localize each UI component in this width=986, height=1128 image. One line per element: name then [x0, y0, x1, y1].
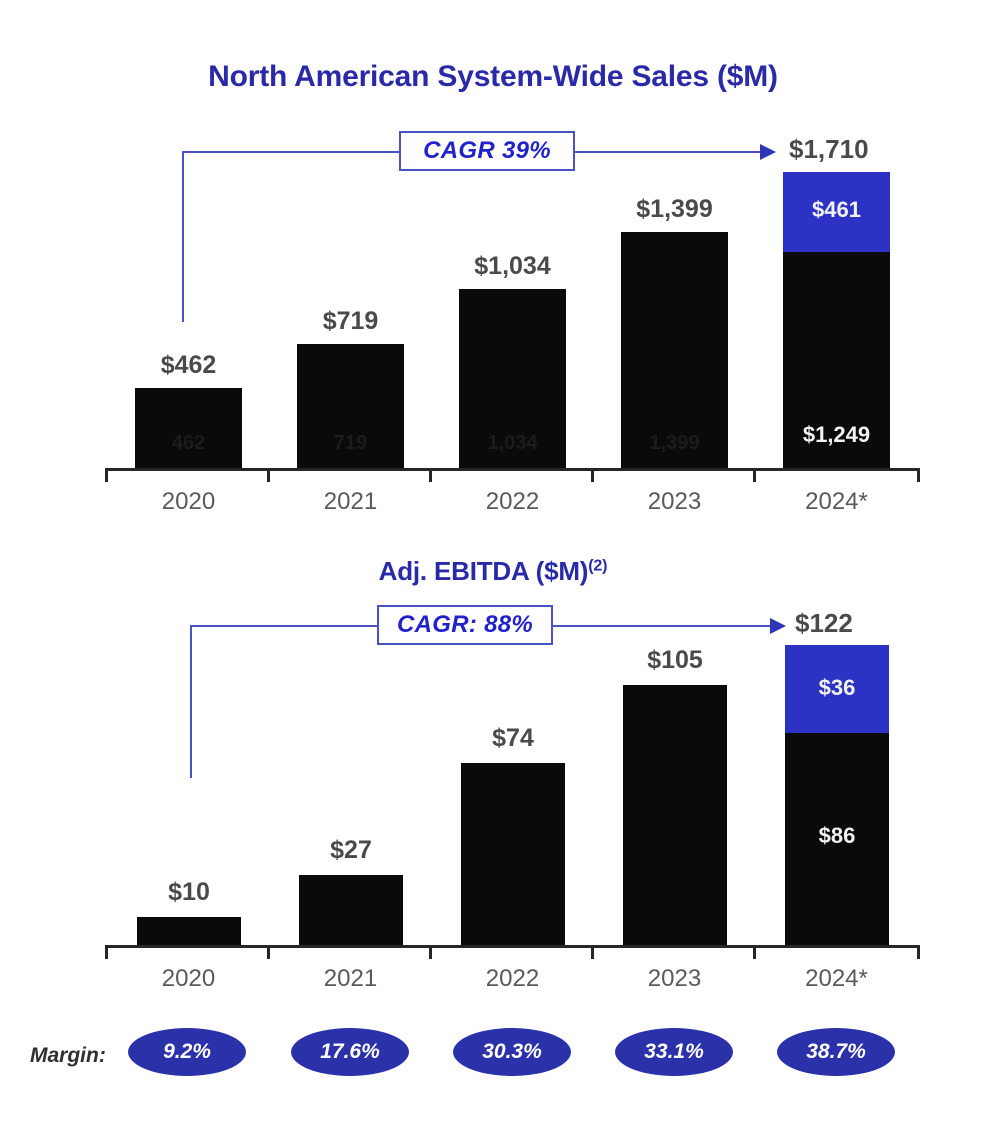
- margin-badge-label-2020: 9.2%: [163, 1040, 211, 1064]
- x-axis-label-2023-ebitda: 2023: [614, 965, 735, 993]
- x-axis-label-2024-sales: 2024*: [776, 488, 897, 516]
- x-axis-label-2021-ebitda: 2021: [290, 965, 411, 993]
- x-axis-tick-4-ebitda: [753, 947, 756, 959]
- x-axis-label-2020-sales: 2020: [128, 488, 249, 516]
- cagr-arrowhead-sales: [760, 144, 776, 160]
- value-label-2020-sales: $462: [135, 351, 242, 380]
- x-axis-tick-4-sales: [753, 470, 756, 482]
- cagr-arrowhead-ebitda: [770, 618, 786, 634]
- x-axis-label-2023-sales: 2023: [614, 488, 735, 516]
- cagr-badge-sales: CAGR 39%: [399, 131, 575, 171]
- bar-inner-label-2020-sales: 462: [135, 432, 242, 455]
- chart-adj-ebitda: CAGR: 88% $122 $10 $27 $74 $105 $86 $36: [0, 600, 986, 1000]
- x-axis-label-2021-sales: 2021: [290, 488, 411, 516]
- x-axis-cap-left-sales: [105, 468, 108, 482]
- cagr-horizontal-line-right-sales: [575, 151, 771, 153]
- margin-badge-label-2024: 38.7%: [806, 1040, 866, 1064]
- value-label-2022-ebitda: $74: [454, 724, 572, 753]
- slide-canvas: North American System-Wide Sales ($M) CA…: [0, 0, 986, 1128]
- margin-badge-2021: 17.6%: [291, 1028, 409, 1076]
- bar-2022-sales: 1,034: [459, 289, 566, 468]
- bar-2024-sales-incremental: $461: [783, 172, 890, 252]
- margin-badge-label-2022: 30.3%: [482, 1040, 542, 1064]
- cagr-badge-ebitda: CAGR: 88%: [377, 605, 553, 645]
- value-label-2021-sales: $719: [297, 307, 404, 336]
- title-superscript-ebitda: (2): [588, 556, 607, 574]
- cagr-horizontal-line-left-sales: [182, 151, 399, 153]
- margin-badge-label-2023: 33.1%: [644, 1040, 704, 1064]
- margin-badge-2022: 30.3%: [453, 1028, 571, 1076]
- cagr-badge-label-sales: CAGR 39%: [423, 137, 551, 165]
- bar-2020-ebitda: [137, 917, 241, 945]
- x-axis-label-2024-ebitda: 2024*: [776, 965, 897, 993]
- bar-2021-ebitda: [299, 875, 403, 945]
- title-text-sales: North American System-Wide Sales ($M): [208, 60, 778, 93]
- bar-2024-ebitda-base: $86: [785, 733, 889, 945]
- x-axis-tick-2-sales: [429, 470, 432, 482]
- margin-caption: Margin:: [30, 1044, 106, 1068]
- value-label-2022-sales: $1,034: [452, 252, 573, 281]
- margin-badge-2023: 33.1%: [615, 1028, 733, 1076]
- total-value-text-ebitda: $122: [795, 608, 853, 638]
- cagr-horizontal-line-right-ebitda: [553, 625, 778, 627]
- cagr-horizontal-line-left-ebitda: [190, 625, 377, 627]
- page-title-sales: North American System-Wide Sales ($M): [0, 60, 986, 94]
- x-axis-cap-right-ebitda: [917, 945, 920, 959]
- bar-2020-sales: 462: [135, 388, 242, 468]
- margin-badge-2020: 9.2%: [128, 1028, 246, 1076]
- x-axis-tick-1-sales: [267, 470, 270, 482]
- x-axis-label-2020-ebitda: 2020: [128, 965, 249, 993]
- x-axis-tick-3-ebitda: [591, 947, 594, 959]
- total-value-text-sales: $1,710: [789, 134, 869, 164]
- value-label-2023-ebitda: $105: [616, 646, 734, 675]
- cagr-vertical-connector-sales: [182, 152, 184, 322]
- margin-badge-2024: 38.7%: [777, 1028, 895, 1076]
- bar-2022-ebitda: [461, 763, 565, 945]
- bar-2024-sales-base: $1,249: [783, 252, 890, 468]
- x-axis-cap-right-sales: [917, 468, 920, 482]
- bar-2023-ebitda: [623, 685, 727, 945]
- bar-inner-label-2022-sales: 1,034: [459, 432, 566, 455]
- segment-label-2024-incremental-ebitda: $36: [785, 675, 889, 701]
- bar-inner-label-2023-sales: 1,399: [621, 432, 728, 455]
- segment-label-2024-base-ebitda: $86: [785, 823, 889, 849]
- value-label-2020-ebitda: $10: [130, 878, 248, 907]
- bar-inner-label-2021-sales: 719: [297, 432, 404, 455]
- value-label-2021-ebitda: $27: [292, 836, 410, 865]
- x-axis-tick-3-sales: [591, 470, 594, 482]
- page-title-ebitda: Adj. EBITDA ($M)(2): [0, 556, 986, 587]
- bar-2023-sales: 1,399: [621, 232, 728, 468]
- cagr-vertical-connector-ebitda: [190, 626, 192, 778]
- margin-badge-label-2021: 17.6%: [320, 1040, 380, 1064]
- x-axis-tick-2-ebitda: [429, 947, 432, 959]
- margin-row: Margin: 9.2% 17.6% 30.3% 33.1% 38.7%: [0, 1028, 986, 1098]
- x-axis-label-2022-ebitda: 2022: [452, 965, 573, 993]
- x-axis-tick-1-ebitda: [267, 947, 270, 959]
- cagr-badge-label-ebitda: CAGR: 88%: [397, 611, 533, 639]
- bar-2021-sales: 719: [297, 344, 404, 468]
- value-label-2023-sales: $1,399: [614, 195, 735, 224]
- x-axis-line-sales: [105, 468, 920, 471]
- chart-system-wide-sales: CAGR 39% $1,710 462 $462 719 $719 1,034 …: [0, 120, 986, 540]
- total-value-label-ebitda: $122: [795, 608, 853, 639]
- total-value-label-sales: $1,710: [789, 134, 869, 165]
- x-axis-cap-left-ebitda: [105, 945, 108, 959]
- segment-label-2024-incremental-sales: $461: [783, 197, 890, 223]
- bar-2024-ebitda-incremental: $36: [785, 645, 889, 733]
- title-text-ebitda: Adj. EBITDA ($M): [379, 556, 589, 586]
- x-axis-label-2022-sales: 2022: [452, 488, 573, 516]
- segment-label-2024-base-sales: $1,249: [783, 422, 890, 448]
- x-axis-line-ebitda: [105, 945, 920, 948]
